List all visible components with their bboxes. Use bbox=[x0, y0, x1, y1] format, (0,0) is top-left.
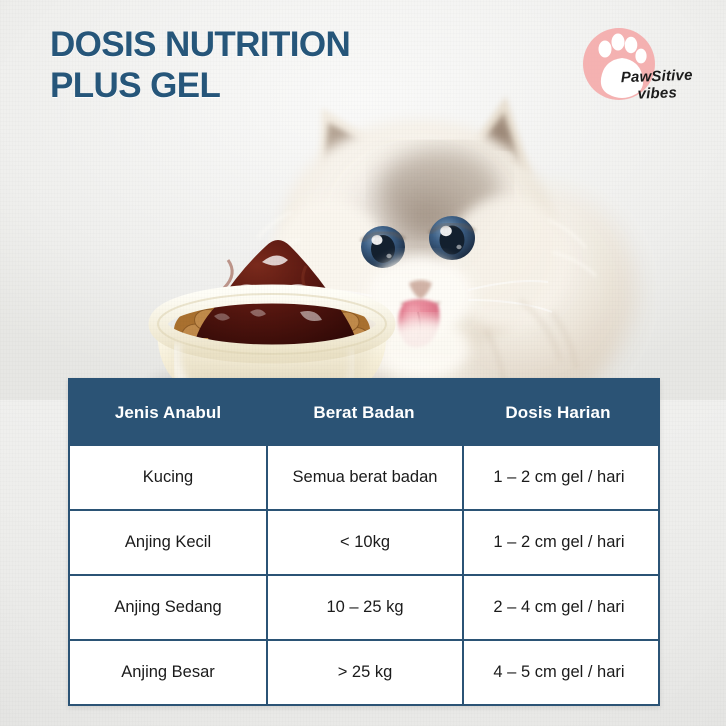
table-row: Anjing Kecil < 10kg 1 – 2 cm gel / hari bbox=[70, 509, 658, 574]
dosage-table: Jenis Anabul Berat Badan Dosis Harian Ku… bbox=[68, 378, 660, 706]
table-row: Anjing Sedang 10 – 25 kg 2 – 4 cm gel / … bbox=[70, 574, 658, 639]
column-header-berat-badan: Berat Badan bbox=[266, 380, 462, 446]
cell-jenis-anabul: Anjing Sedang bbox=[70, 576, 266, 639]
cell-dosis-harian: 1 – 2 cm gel / hari bbox=[462, 446, 654, 509]
table-row: Anjing Besar > 25 kg 4 – 5 cm gel / hari bbox=[70, 639, 658, 704]
column-header-dosis-harian: Dosis Harian bbox=[462, 380, 654, 446]
cell-dosis-harian: 2 – 4 cm gel / hari bbox=[462, 576, 654, 639]
table-row: Kucing Semua berat badan 1 – 2 cm gel / … bbox=[70, 446, 658, 509]
logo-wordmark: PawSitive vibes bbox=[610, 66, 703, 103]
cell-jenis-anabul: Anjing Kecil bbox=[70, 511, 266, 574]
column-header-jenis-anabul: Jenis Anabul bbox=[70, 380, 266, 446]
table-body: Kucing Semua berat badan 1 – 2 cm gel / … bbox=[70, 446, 658, 704]
page-title: Dosis Nutrition Plus Gel bbox=[50, 24, 470, 106]
cell-jenis-anabul: Kucing bbox=[70, 446, 266, 509]
cell-berat-badan: 10 – 25 kg bbox=[266, 576, 462, 639]
cell-dosis-harian: 1 – 2 cm gel / hari bbox=[462, 511, 654, 574]
cell-berat-badan: Semua berat badan bbox=[266, 446, 462, 509]
poster-canvas: Dosis Nutrition Plus Gel PawSitive vibes… bbox=[0, 0, 726, 726]
cell-berat-badan: < 10kg bbox=[266, 511, 462, 574]
cell-berat-badan: > 25 kg bbox=[266, 641, 462, 704]
cell-dosis-harian: 4 – 5 cm gel / hari bbox=[462, 641, 654, 704]
table-header-row: Jenis Anabul Berat Badan Dosis Harian bbox=[70, 380, 658, 446]
brand-logo: PawSitive vibes bbox=[575, 22, 695, 130]
cell-jenis-anabul: Anjing Besar bbox=[70, 641, 266, 704]
